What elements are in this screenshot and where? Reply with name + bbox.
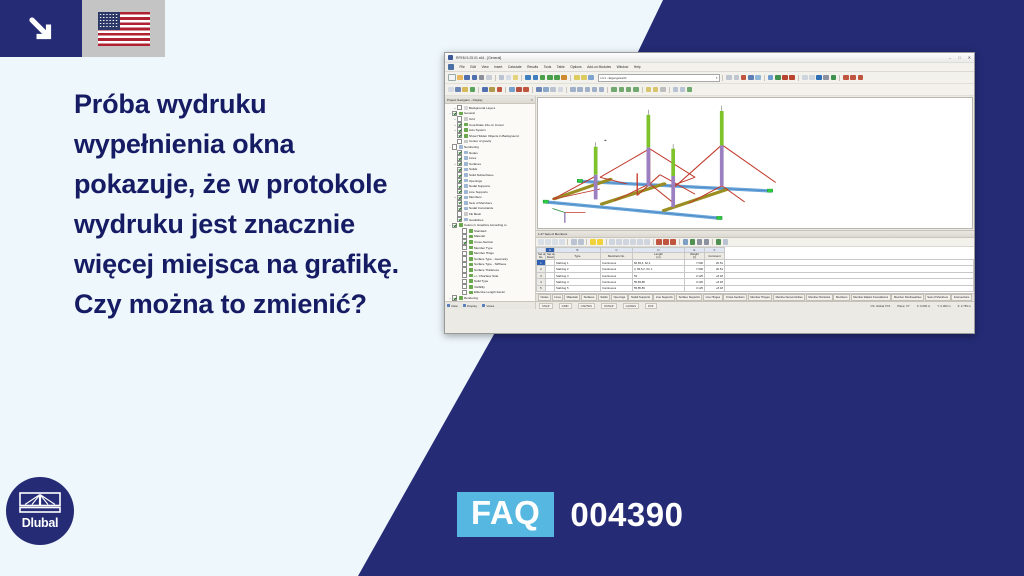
table-tabstrip[interactable]: NodesLinesMaterialsSurfacesSolidsOpening… (536, 293, 974, 301)
table-first-button[interactable] (623, 239, 629, 245)
navigator-tree[interactable]: +Background Layers−General+Grid+Coordina… (445, 104, 535, 301)
checkbox-icon[interactable] (457, 150, 462, 155)
checkbox-icon[interactable] (462, 267, 467, 272)
menu-item-insert[interactable]: Insert (494, 65, 502, 69)
help-button[interactable] (831, 75, 837, 81)
grid-toggle-button[interactable] (570, 87, 576, 93)
navigator-item-label: FE Mesh (469, 212, 481, 216)
tree-item-icon (464, 212, 468, 216)
table-tab[interactable]: Openings (611, 294, 628, 300)
toolbar-secondary (445, 84, 974, 96)
navigator-item-label: Material (474, 234, 485, 238)
undo-button[interactable] (525, 75, 531, 81)
dlubal-logo-text: Dlubal (22, 516, 58, 530)
table-tab[interactable]: Lines (552, 294, 564, 300)
tree-item-icon (464, 179, 468, 183)
checkbox-icon[interactable] (457, 139, 462, 144)
table-last-button[interactable] (644, 239, 650, 245)
paste-button[interactable] (513, 75, 519, 81)
status-osnap[interactable]: OSNAP (601, 303, 617, 309)
checkbox-icon[interactable] (452, 295, 457, 300)
navigator-item-label: Solids (469, 167, 477, 171)
menu-item-tools[interactable]: Tools (544, 65, 552, 69)
checkbox-icon[interactable] (452, 144, 457, 149)
table-delete-button[interactable] (552, 239, 558, 245)
grid-column-header[interactable]: Comment (704, 253, 724, 260)
navigator-item-label: Solid Type (474, 279, 488, 283)
menu-bar: File Edit View Insert Calculate Results … (445, 63, 974, 72)
checkbox-icon[interactable] (457, 172, 462, 177)
navigator-title: Project Navigator - Display (447, 98, 483, 102)
checkbox-icon[interactable] (457, 133, 462, 138)
table-tab[interactable]: Intersections (951, 294, 972, 300)
snap-button[interactable] (448, 87, 454, 93)
tree-item-icon (464, 106, 468, 110)
osnap-toggle-button[interactable] (577, 87, 583, 93)
tree-item-icon (469, 235, 473, 239)
table-row[interactable]: 5Stabzug 5Continuous55,85,863.125+8.18 (536, 285, 973, 291)
calculate-button[interactable] (775, 75, 781, 81)
checkbox-icon[interactable] (457, 105, 462, 110)
navigator-item-label: Surfaces (469, 162, 481, 166)
table-tab[interactable]: Members (833, 294, 850, 300)
table-tab[interactable]: Nodes (538, 294, 551, 300)
arc-tool-button[interactable] (462, 87, 468, 93)
result-diagram-button[interactable] (680, 87, 686, 93)
measure-button[interactable] (809, 75, 815, 81)
table-color-c-button[interactable] (670, 239, 676, 245)
model-viewport[interactable]: ⌖ (537, 97, 973, 229)
grid-column-header[interactable]: Length[m] (632, 253, 684, 260)
tree-item-icon (464, 218, 468, 222)
tree-item-icon (464, 151, 468, 155)
layer-button[interactable] (660, 87, 666, 93)
rotate-button[interactable] (611, 87, 617, 93)
cell-length[interactable]: 3.125 (684, 285, 704, 291)
checkbox-icon[interactable] (462, 262, 467, 267)
grid-column-header[interactable]: Set of M.No. (536, 253, 545, 260)
slide-canvas: Próba wydruku wypełnienia okna pokazuje,… (0, 0, 1024, 576)
view-top-button[interactable] (858, 75, 864, 81)
animation-button[interactable] (687, 87, 693, 93)
thickness-button[interactable] (550, 87, 556, 93)
table-tab[interactable]: Sets of Members (925, 294, 951, 300)
tree-item-icon (469, 251, 473, 255)
checkbox-icon[interactable] (452, 111, 457, 116)
load-case-icon[interactable] (588, 75, 594, 81)
guideline-button[interactable] (599, 87, 605, 93)
canvas-column: ⌖ (536, 96, 974, 309)
app-icon (448, 55, 453, 60)
checkbox-icon[interactable] (457, 167, 462, 172)
table-export-button[interactable] (690, 239, 696, 245)
close-button[interactable]: ✕ (968, 55, 971, 60)
menu-item-options[interactable]: Options (570, 65, 581, 69)
table-tab[interactable]: Nodal Supports (628, 294, 652, 300)
window-titlebar: RFEM 5.25.01 x64 - [General] – □ ✕ (445, 53, 974, 63)
checkbox-icon[interactable] (457, 189, 462, 194)
mirror-button[interactable] (619, 87, 625, 93)
deformation-button[interactable] (748, 75, 754, 81)
dimension-button[interactable] (592, 87, 598, 93)
window-title: RFEM 5.25.01 x64 - [General] (456, 56, 501, 60)
delete-button[interactable] (816, 75, 822, 81)
cell-type[interactable]: Continuous (600, 285, 632, 291)
us-flag-icon (82, 0, 165, 57)
checkbox-icon[interactable] (462, 290, 467, 295)
tree-item-icon (464, 168, 468, 172)
truss-bridge-icon (19, 492, 61, 514)
checkbox-icon[interactable] (457, 195, 462, 200)
table-print-button[interactable] (697, 239, 703, 245)
menu-item-calculate[interactable]: Calculate (508, 65, 522, 69)
tree-item-icon (469, 268, 473, 272)
navigator-item-label: Surface Type - Stiffness (474, 262, 506, 266)
navigator-tab-views-label: Views (486, 304, 494, 308)
save-button[interactable] (464, 75, 470, 81)
status-snap[interactable]: SNAP (539, 303, 553, 309)
cross-section-button[interactable] (536, 87, 542, 93)
checkbox-icon[interactable] (457, 200, 462, 205)
checkbox-icon[interactable] (462, 256, 467, 261)
table-color-b-button[interactable] (663, 239, 669, 245)
navigator-item-label: Background Layers (469, 106, 495, 110)
status-plane: Plane: XY (897, 304, 909, 308)
navigator-item-label: Solid Subsurfaces (469, 173, 494, 177)
copy-button[interactable] (506, 75, 512, 81)
navigator-tabs: Data Display Views (445, 301, 535, 309)
zoom-in-button[interactable] (540, 75, 546, 81)
tree-item-icon (464, 190, 468, 194)
next-case-button[interactable] (734, 75, 740, 81)
checkbox-icon[interactable] (457, 183, 462, 188)
wireframe-button[interactable] (581, 75, 587, 81)
new-file-button[interactable] (448, 74, 456, 82)
node-button[interactable] (482, 87, 488, 93)
navigator-item-label: General (464, 111, 475, 115)
tree-item-icon (459, 145, 463, 149)
table-highlight-button[interactable] (590, 239, 596, 245)
tree-item-icon (469, 246, 473, 250)
scale-button[interactable] (633, 87, 639, 93)
table-filter-button[interactable] (571, 239, 577, 245)
navigator-tab-data[interactable]: Data (447, 304, 458, 308)
table-redo-button[interactable] (616, 239, 622, 245)
table-tab[interactable]: Member Hinges (748, 294, 773, 300)
cell-row-number[interactable]: 5 (536, 285, 545, 291)
zoom-out-button[interactable] (547, 75, 553, 81)
checkbox-icon[interactable] (452, 223, 457, 228)
prev-case-button[interactable] (726, 75, 732, 81)
navigator-item-label: Standard (474, 229, 486, 233)
grid-column-header[interactable]: Members No. (600, 253, 632, 260)
tree-item-icon (469, 229, 473, 233)
print-preview-button[interactable] (486, 75, 492, 81)
tree-item-icon (469, 257, 473, 261)
tree-item-icon (464, 128, 468, 132)
navigator-tab-data-label: Data (451, 304, 457, 308)
table-tab[interactable]: Surfaces (581, 294, 597, 300)
visibility-button[interactable] (646, 87, 652, 93)
menu-item-view[interactable]: View (482, 65, 489, 69)
navigator-item-label: Nodes (469, 151, 478, 155)
language-corner-block (0, 0, 165, 57)
render-mode-button[interactable] (574, 75, 580, 81)
navigator-item-label: Effective Length Factor (474, 290, 505, 294)
tree-item-icon (464, 162, 468, 166)
hinge-button[interactable] (516, 87, 522, 93)
navigator-item-label: Member Hinge (474, 251, 494, 255)
display-icon (463, 304, 466, 307)
status-x: X: 0.000 m (917, 304, 931, 308)
tree-item-icon (464, 140, 468, 144)
status-dxf[interactable]: DXF (645, 303, 657, 309)
table-grid-button[interactable] (683, 239, 689, 245)
cut-button[interactable] (499, 75, 505, 81)
select-button[interactable] (802, 75, 808, 81)
table-edit-button[interactable] (545, 239, 551, 245)
menu-item-edit[interactable]: Edit (470, 65, 476, 69)
navigator-item-label: Nodal Constraints (469, 206, 493, 210)
tree-item-icon (464, 134, 468, 138)
checkbox-icon[interactable] (457, 206, 462, 211)
faq-badge: FAQ (457, 492, 554, 537)
navigator-item-label: Nodal Supports (469, 184, 490, 188)
navigator-item-label: Show Hidden Objects in Background (469, 134, 519, 138)
checkbox-icon[interactable] (462, 234, 467, 239)
clipping-button[interactable] (653, 87, 659, 93)
navigator-item-label: +/- z/Surface Side (474, 274, 498, 278)
table-toolbar (536, 238, 974, 247)
navigator-item-label: Numbering (464, 145, 479, 149)
tree-item-icon (469, 291, 473, 295)
table-selection-button[interactable] (597, 239, 603, 245)
structural-model-3d (538, 98, 972, 228)
table-copy-button[interactable] (559, 239, 565, 245)
cell-comment[interactable] (724, 285, 973, 291)
tree-item-icon (464, 184, 468, 188)
checkbox-icon[interactable] (457, 116, 462, 121)
menu-item-help[interactable]: Help (634, 65, 641, 69)
menu-item-addon-modules[interactable]: Add-on Modules (587, 65, 611, 69)
tree-item-icon (464, 117, 468, 121)
table-panel: 1.27 Sets of Members (536, 230, 974, 301)
tree-item-icon (464, 123, 468, 127)
checkbox-icon[interactable] (457, 155, 462, 160)
navigator-item-label: Cross-Section (474, 240, 493, 244)
checkbox-icon[interactable] (462, 284, 467, 289)
checkbox-icon[interactable] (457, 122, 462, 127)
cell-spacer[interactable] (545, 285, 554, 291)
surface-button[interactable] (497, 87, 503, 93)
settings-button[interactable] (823, 75, 829, 81)
navigator-item-label: Coordinate Info on Cursor (469, 123, 504, 127)
table-tab[interactable]: Materials (564, 294, 580, 300)
navigator-item-label: Grid (469, 117, 475, 121)
navigator-item-label: Axis System (469, 128, 486, 132)
status-coordinate-system: CS: Global XYZ (871, 304, 891, 308)
workspace: Project Navigator - Display ✕ +Backgroun… (445, 96, 974, 309)
table-tab[interactable]: Member Divisions (806, 294, 833, 300)
copy-object-button[interactable] (626, 87, 632, 93)
menu-item-file[interactable]: File (460, 65, 465, 69)
tree-item-icon (464, 207, 468, 211)
table-tab[interactable]: Surface Supports (676, 294, 702, 300)
graphic-print-button[interactable] (782, 75, 788, 81)
status-bar: SNAP GRID CARTES OSNAP GLINES DXF CS: Gl… (536, 301, 974, 309)
checkbox-icon[interactable] (462, 273, 467, 278)
load-button[interactable] (523, 87, 529, 93)
tree-item-icon (469, 240, 473, 244)
tree-item-icon (469, 274, 473, 278)
checkbox-icon[interactable] (457, 217, 462, 222)
mouse-cursor-icon: ⌖ (604, 138, 607, 144)
table-tab[interactable]: Member Elastic Foundations (851, 294, 891, 300)
opening-button[interactable] (558, 87, 564, 93)
line-tool-button[interactable] (455, 87, 461, 93)
material-button[interactable] (543, 87, 549, 93)
checkbox-icon[interactable] (457, 161, 462, 166)
table-prev-button[interactable] (630, 239, 636, 245)
arrow-down-right-icon (0, 0, 82, 57)
open-file-button[interactable] (457, 75, 463, 81)
table-tab[interactable]: Line Hinges (703, 294, 723, 300)
table-next-button[interactable] (637, 239, 643, 245)
load-case-value: LC1 - Eigengewicht (601, 76, 627, 80)
member-button[interactable] (489, 87, 495, 93)
grid-column-header[interactable]: Weight[t] (684, 253, 704, 260)
checkbox-icon[interactable] (462, 239, 467, 244)
table-color-a-button[interactable] (656, 239, 662, 245)
navigator-header: Project Navigator - Display ✕ (445, 96, 535, 104)
checkbox-icon[interactable] (462, 279, 467, 284)
faq-footer: FAQ 004390 (457, 492, 683, 537)
status-y: Y: 0.000 m (937, 304, 950, 308)
table-sort-button[interactable] (578, 239, 584, 245)
tree-item-icon (469, 263, 473, 267)
table-new-row-button[interactable] (538, 239, 544, 245)
minimize-button[interactable]: – (949, 55, 951, 60)
tree-item-icon (469, 285, 473, 289)
table-panel-title: 1.27 Sets of Members (536, 231, 974, 238)
cell-weight[interactable]: +8.18 (704, 285, 724, 291)
view-side-button[interactable] (850, 75, 856, 81)
dlubal-logo: Dlubal (6, 477, 74, 545)
grid-column-header[interactable]: Type (554, 253, 600, 260)
results-button[interactable] (741, 75, 747, 81)
support-button[interactable] (509, 87, 515, 93)
faq-number: 004390 (570, 496, 683, 534)
tree-item-icon (459, 223, 463, 227)
navigator-item-label: Lines (469, 156, 476, 160)
checkbox-icon[interactable] (462, 251, 467, 256)
navigator-item-label: Center of gravity (469, 139, 491, 143)
navigator-item-label: Sets of Members (469, 201, 492, 205)
ortho-toggle-button[interactable] (585, 87, 591, 93)
tree-item-icon (459, 296, 463, 300)
table-settings-button[interactable] (704, 239, 710, 245)
status-glines[interactable]: GLINES (623, 303, 639, 309)
maximize-button[interactable]: □ (958, 55, 960, 60)
navigator-close-icon[interactable]: ✕ (530, 98, 533, 102)
checkbox-icon[interactable] (457, 211, 462, 216)
navigator-item-label: Visibility (474, 285, 485, 289)
menu-app-icon (448, 64, 454, 70)
navigator-item-label: Member Type (474, 246, 493, 250)
checkbox-icon[interactable] (457, 178, 462, 183)
navigator-item-label: Surface Type - Geometry (474, 257, 508, 261)
navigator-item-label: Members (469, 195, 482, 199)
status-cartes[interactable]: CARTES (578, 303, 595, 309)
zoom-all-button[interactable] (554, 75, 560, 81)
navigator-item-label: Guidelines (469, 218, 483, 222)
result-values-button[interactable] (673, 87, 679, 93)
navigator-item-label: Openings (469, 179, 482, 183)
navigator-item-label: Colors in Graphics According to (464, 223, 507, 227)
save-all-button[interactable] (472, 75, 478, 81)
polyline-button[interactable] (470, 87, 476, 93)
navigator-tab-display[interactable]: Display (463, 304, 477, 308)
table-tab[interactable]: Line Supports (653, 294, 675, 300)
load-case-select[interactable]: LC1 - Eigengewicht ▾ (598, 74, 720, 82)
navigator-item-label: Surface Thickness (474, 268, 499, 272)
navigator-tab-views[interactable]: Views (482, 304, 494, 308)
views-icon (482, 304, 485, 307)
cell-members[interactable]: 55,85,86 (632, 285, 684, 291)
navigator-item-label: Line Supports (469, 190, 488, 194)
table-tab[interactable]: Cross-Sections (723, 294, 747, 300)
table-tab[interactable]: Member Nonlinearities (891, 294, 924, 300)
tree-item-icon (464, 156, 468, 160)
sets-of-members-grid[interactable]: ABCDEF Set of M.No.Set of MembersDescrip… (536, 247, 974, 293)
table-tab[interactable]: Solids (598, 294, 611, 300)
tree-item-icon (464, 196, 468, 200)
project-navigator: Project Navigator - Display ✕ +Backgroun… (445, 96, 536, 309)
checkbox-icon[interactable] (462, 245, 467, 250)
rfem-application-window: RFEM 5.25.01 x64 - [General] – □ ✕ File … (444, 52, 975, 334)
navigator-tab-display-label: Display (467, 304, 477, 308)
cell-description[interactable]: Stabzug 5 (554, 285, 600, 291)
mesh-button[interactable] (768, 75, 774, 81)
chevron-down-icon: ▾ (716, 76, 718, 80)
table-info-button[interactable] (723, 239, 729, 245)
checkbox-icon[interactable] (462, 228, 467, 233)
status-z: Z: 2.750 m (958, 304, 971, 308)
tree-item-icon (469, 279, 473, 283)
tree-item-icon (459, 112, 463, 116)
view-front-button[interactable] (843, 75, 849, 81)
grid-column-header[interactable]: Set of MembersDescription (545, 253, 554, 260)
table-undo-button[interactable] (609, 239, 615, 245)
status-grid[interactable]: GRID (559, 303, 572, 309)
navigator-item-label: Rendering (464, 296, 478, 300)
page-title: Próba wydruku wypełnienia okna pokazuje,… (74, 84, 404, 324)
tree-item-icon (464, 173, 468, 177)
menu-item-window[interactable]: Window (617, 65, 629, 69)
menu-item-results[interactable]: Results (527, 65, 538, 69)
tree-item-icon (464, 201, 468, 205)
table-tab[interactable]: Member Eccentricities (773, 294, 805, 300)
menu-item-table[interactable]: Table (557, 65, 565, 69)
toolbar-primary: LC1 - Eigengewicht ▾ (445, 72, 974, 84)
printout-report-button[interactable] (789, 75, 795, 81)
refresh-button[interactable] (561, 75, 567, 81)
print-button[interactable] (479, 75, 485, 81)
isolines-button[interactable] (755, 75, 761, 81)
redo-button[interactable] (533, 75, 539, 81)
table-help-button[interactable] (716, 239, 722, 245)
checkbox-icon[interactable] (457, 127, 462, 132)
